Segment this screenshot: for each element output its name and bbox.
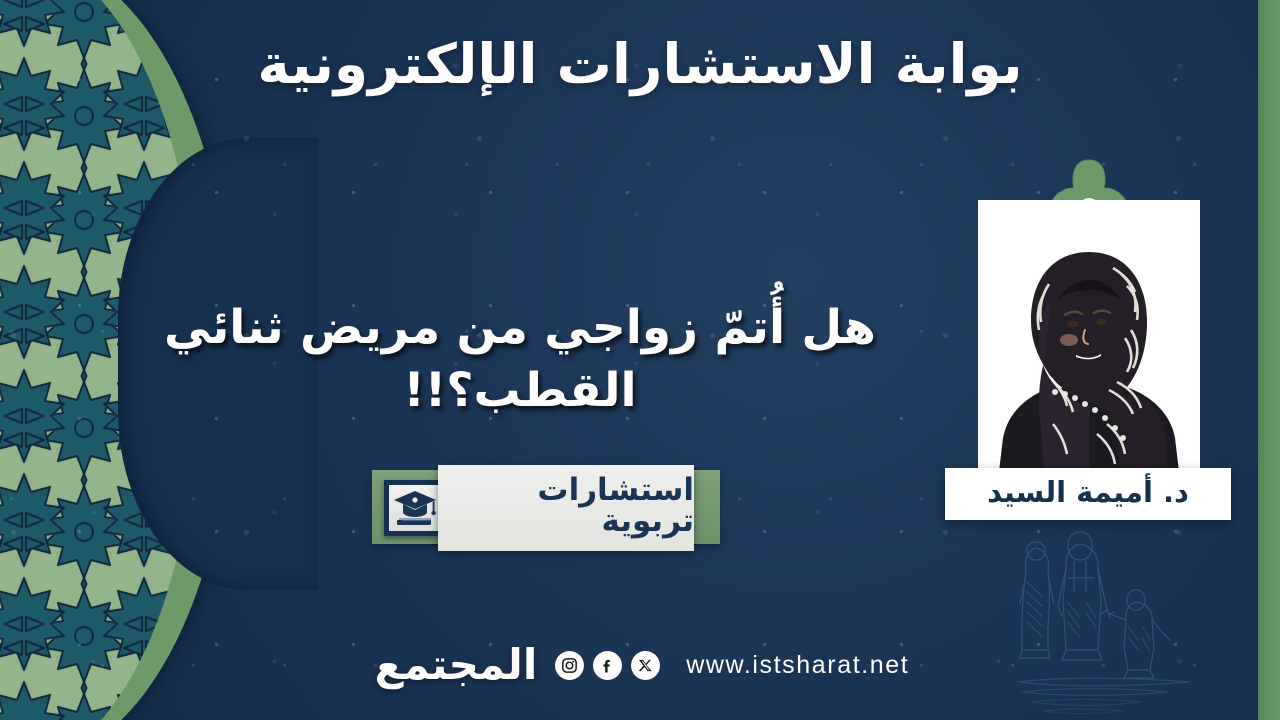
facebook-icon[interactable] (593, 651, 622, 680)
portrait-frame (944, 158, 1234, 510)
consultant-portrait (989, 238, 1189, 488)
status-badge: د. أميمة السيد (945, 468, 1231, 520)
badge-label: استشارات تربوية (438, 475, 694, 541)
brand-logo[interactable]: المجتمع (375, 644, 538, 686)
family-line-art (1018, 530, 1248, 720)
website-url[interactable]: www.istsharat.net (686, 651, 909, 680)
avatar (978, 200, 1200, 488)
social-links (555, 651, 660, 680)
right-edge-strip (1258, 0, 1280, 720)
page-title: بوابة الاستشارات الإلكترونية (0, 30, 1280, 99)
badge-panel: استشارات تربوية (438, 465, 694, 551)
consultation-card: بوابة الاستشارات الإلكترونية هل أُتمّ زو… (0, 0, 1280, 720)
badge-icon-box (384, 480, 446, 536)
graduation-cap-book-icon (389, 485, 441, 531)
instagram-icon[interactable] (555, 651, 584, 680)
headline: هل أُتمّ زواجي من مريض ثنائي القطب؟!! (110, 296, 930, 423)
consultant-name: د. أميمة السيد (987, 478, 1189, 511)
category-badge[interactable]: استشارات تربوية (372, 463, 728, 551)
footer-bar: المجتمع www.istsharat.net (0, 644, 1280, 686)
x-twitter-icon[interactable] (631, 651, 660, 680)
